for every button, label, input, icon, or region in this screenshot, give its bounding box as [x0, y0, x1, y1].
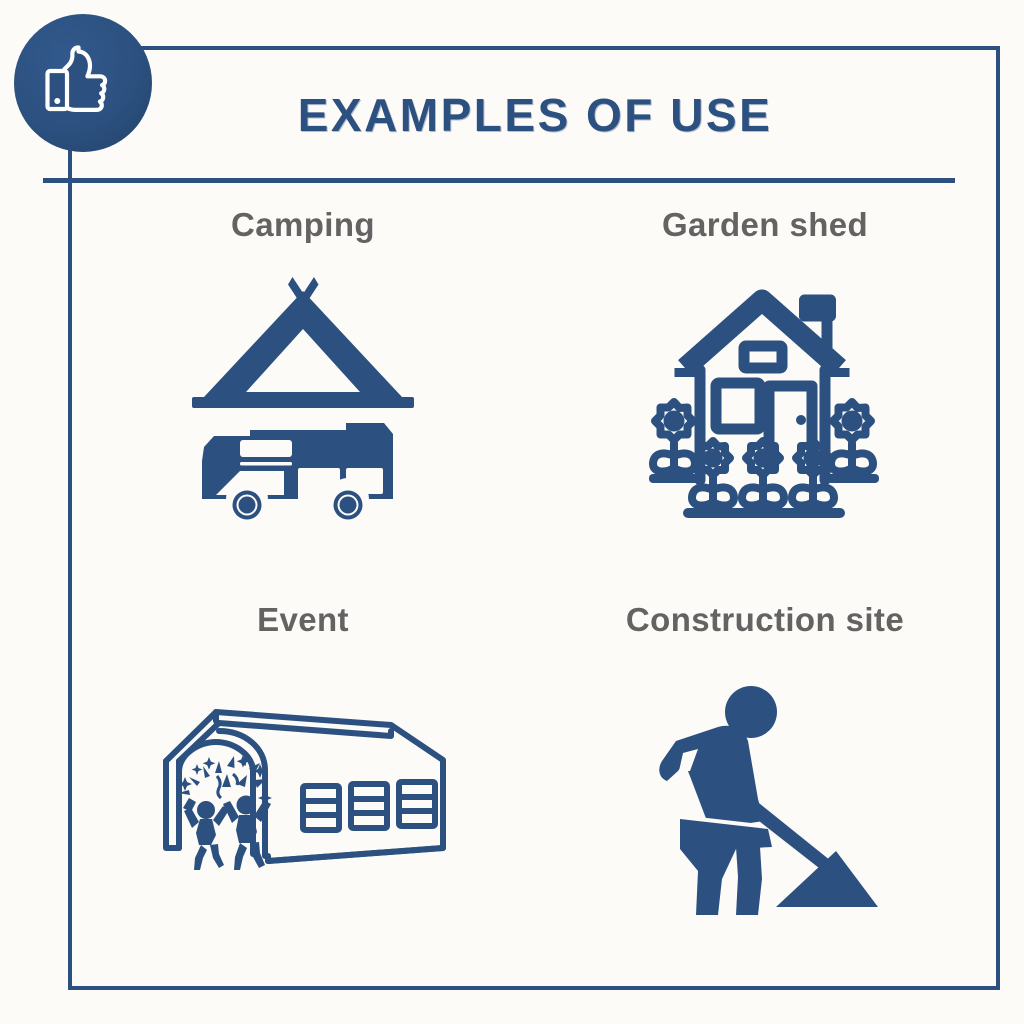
- example-label-camping: Camping: [231, 206, 375, 244]
- example-camping: Camping: [72, 192, 534, 587]
- party-marquee-tent-icon: [72, 639, 534, 982]
- thumbs-up-icon: [37, 37, 129, 129]
- example-label-construction-site: Construction site: [626, 601, 904, 639]
- example-label-event: Event: [257, 601, 349, 639]
- tent-and-camper-van-icon: [72, 244, 534, 587]
- title-divider: [43, 178, 955, 183]
- examples-grid: Camping: [72, 192, 996, 982]
- example-label-garden-shed: Garden shed: [662, 206, 868, 244]
- house-with-flowers-icon: [534, 244, 996, 587]
- infographic-canvas: EXAMPLES OF USE Camping: [0, 0, 1024, 1024]
- worker-digging-icon: [534, 639, 996, 982]
- page-title: EXAMPLES OF USE: [68, 88, 1002, 142]
- example-garden-shed: Garden shed: [534, 192, 996, 587]
- example-event: Event: [72, 587, 534, 982]
- thumbs-up-badge: [14, 14, 152, 152]
- example-construction-site: Construction site: [534, 587, 996, 982]
